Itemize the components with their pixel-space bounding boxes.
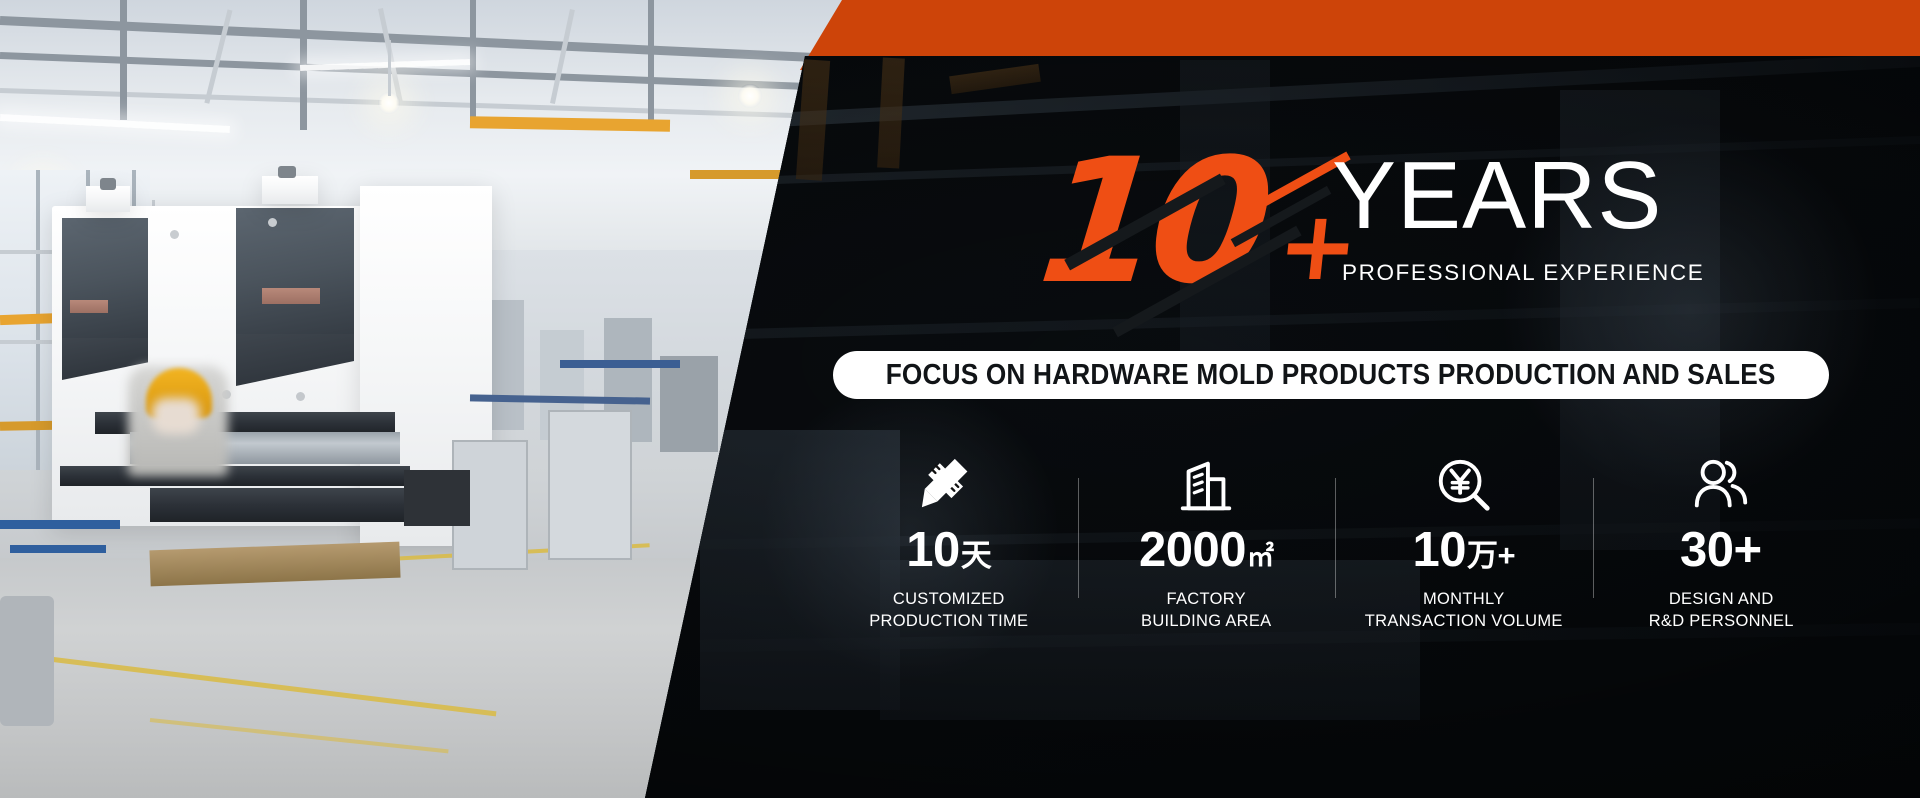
- stat-monthly-transaction-volume: 10万+ MONTHLY TRANSACTION VOLUME: [1335, 450, 1593, 665]
- machine-motor-cap: [100, 178, 116, 190]
- stat-label-line1: CUSTOMIZED: [893, 590, 1005, 608]
- machine-control-head: [236, 208, 354, 336]
- stat-number: 10: [906, 526, 960, 575]
- stat-label: DESIGN AND R&D PERSONNEL: [1649, 589, 1794, 633]
- workshop-cart-frame: [0, 520, 120, 529]
- stat-label-line1: MONTHLY: [1423, 590, 1505, 608]
- stat-value: 10天: [906, 526, 991, 575]
- workshop-bin: [0, 596, 54, 726]
- stat-label-line1: FACTORY: [1167, 590, 1246, 608]
- stat-design-rd-personnel: 30+ DESIGN AND R&D PERSONNEL: [1593, 450, 1851, 665]
- building-icon: [1175, 450, 1237, 516]
- stat-number: 30+: [1680, 526, 1762, 575]
- stat-unit: ㎡: [1247, 544, 1274, 571]
- pencil-ruler-icon: [918, 450, 980, 516]
- machine-panel-strip: [70, 300, 108, 313]
- stat-factory-building-area: 2000㎡ FACTORY BUILDING AREA: [1078, 450, 1336, 665]
- machine-bolt: [296, 392, 305, 401]
- stat-label-line2: PRODUCTION TIME: [869, 612, 1028, 630]
- stat-label-line2: BUILDING AREA: [1141, 612, 1271, 630]
- machine-motor-cap: [278, 166, 296, 178]
- workshop-crate: [404, 470, 470, 526]
- machine-control-head: [62, 218, 148, 340]
- roof-beam: [470, 0, 476, 122]
- people-icon: [1690, 450, 1752, 516]
- stat-customized-production-time: 10天 CUSTOMIZED PRODUCTION TIME: [820, 450, 1078, 665]
- lamp-cable: [388, 40, 391, 96]
- workshop-cart-frame: [10, 545, 106, 553]
- stat-label: MONTHLY TRANSACTION VOLUME: [1365, 589, 1563, 633]
- press-bed: [150, 488, 440, 522]
- hero-years-label: YEARS: [1332, 148, 1662, 244]
- stat-value: 30+: [1680, 526, 1763, 575]
- machine-bolt: [170, 230, 179, 239]
- roof-beam: [648, 0, 654, 120]
- stat-unit: 万+: [1467, 540, 1515, 571]
- headline-text: FOCUS ON HARDWARE MOLD PRODUCTS PRODUCTI…: [886, 359, 1776, 392]
- stat-number: 10: [1412, 526, 1466, 575]
- stat-value: 2000㎡: [1139, 526, 1274, 575]
- stat-label-line2: TRANSACTION VOLUME: [1365, 612, 1563, 630]
- background-equipment: [660, 356, 718, 452]
- stat-label-line1: DESIGN AND: [1669, 590, 1774, 608]
- press-bed: [60, 466, 410, 486]
- hero-subtitle: PROFESSIONAL EXPERIENCE: [1342, 260, 1704, 286]
- worker-face: [152, 398, 200, 434]
- hero-years-block: 10 + YEARS PROFESSIONAL EXPERIENCE: [1050, 150, 1670, 320]
- headline-pill: FOCUS ON HARDWARE MOLD PRODUCTS PRODUCTI…: [833, 351, 1829, 399]
- promotional-banner: 10 + YEARS PROFESSIONAL EXPERIENCE FOCUS…: [0, 0, 1920, 798]
- stat-unit: 天: [961, 540, 992, 571]
- stat-value: 10万+: [1412, 526, 1515, 575]
- stats-row: 10天 CUSTOMIZED PRODUCTION TIME 200: [820, 450, 1850, 665]
- roof-beam: [120, 0, 127, 120]
- machine-motor: [262, 176, 318, 204]
- stat-label: FACTORY BUILDING AREA: [1141, 589, 1271, 633]
- stat-number: 2000: [1139, 526, 1246, 575]
- ceiling-lamp: [738, 84, 762, 108]
- machine-bolt: [268, 218, 277, 227]
- conveyor-rail: [560, 360, 680, 368]
- machine-panel-strip: [262, 288, 320, 304]
- stat-label: CUSTOMIZED PRODUCTION TIME: [869, 589, 1028, 633]
- stat-label-line2: R&D PERSONNEL: [1649, 612, 1794, 630]
- yen-magnifier-icon: [1433, 450, 1495, 516]
- hero-number-graphic: 10 +: [1050, 150, 1315, 300]
- workshop-cart: [548, 410, 632, 560]
